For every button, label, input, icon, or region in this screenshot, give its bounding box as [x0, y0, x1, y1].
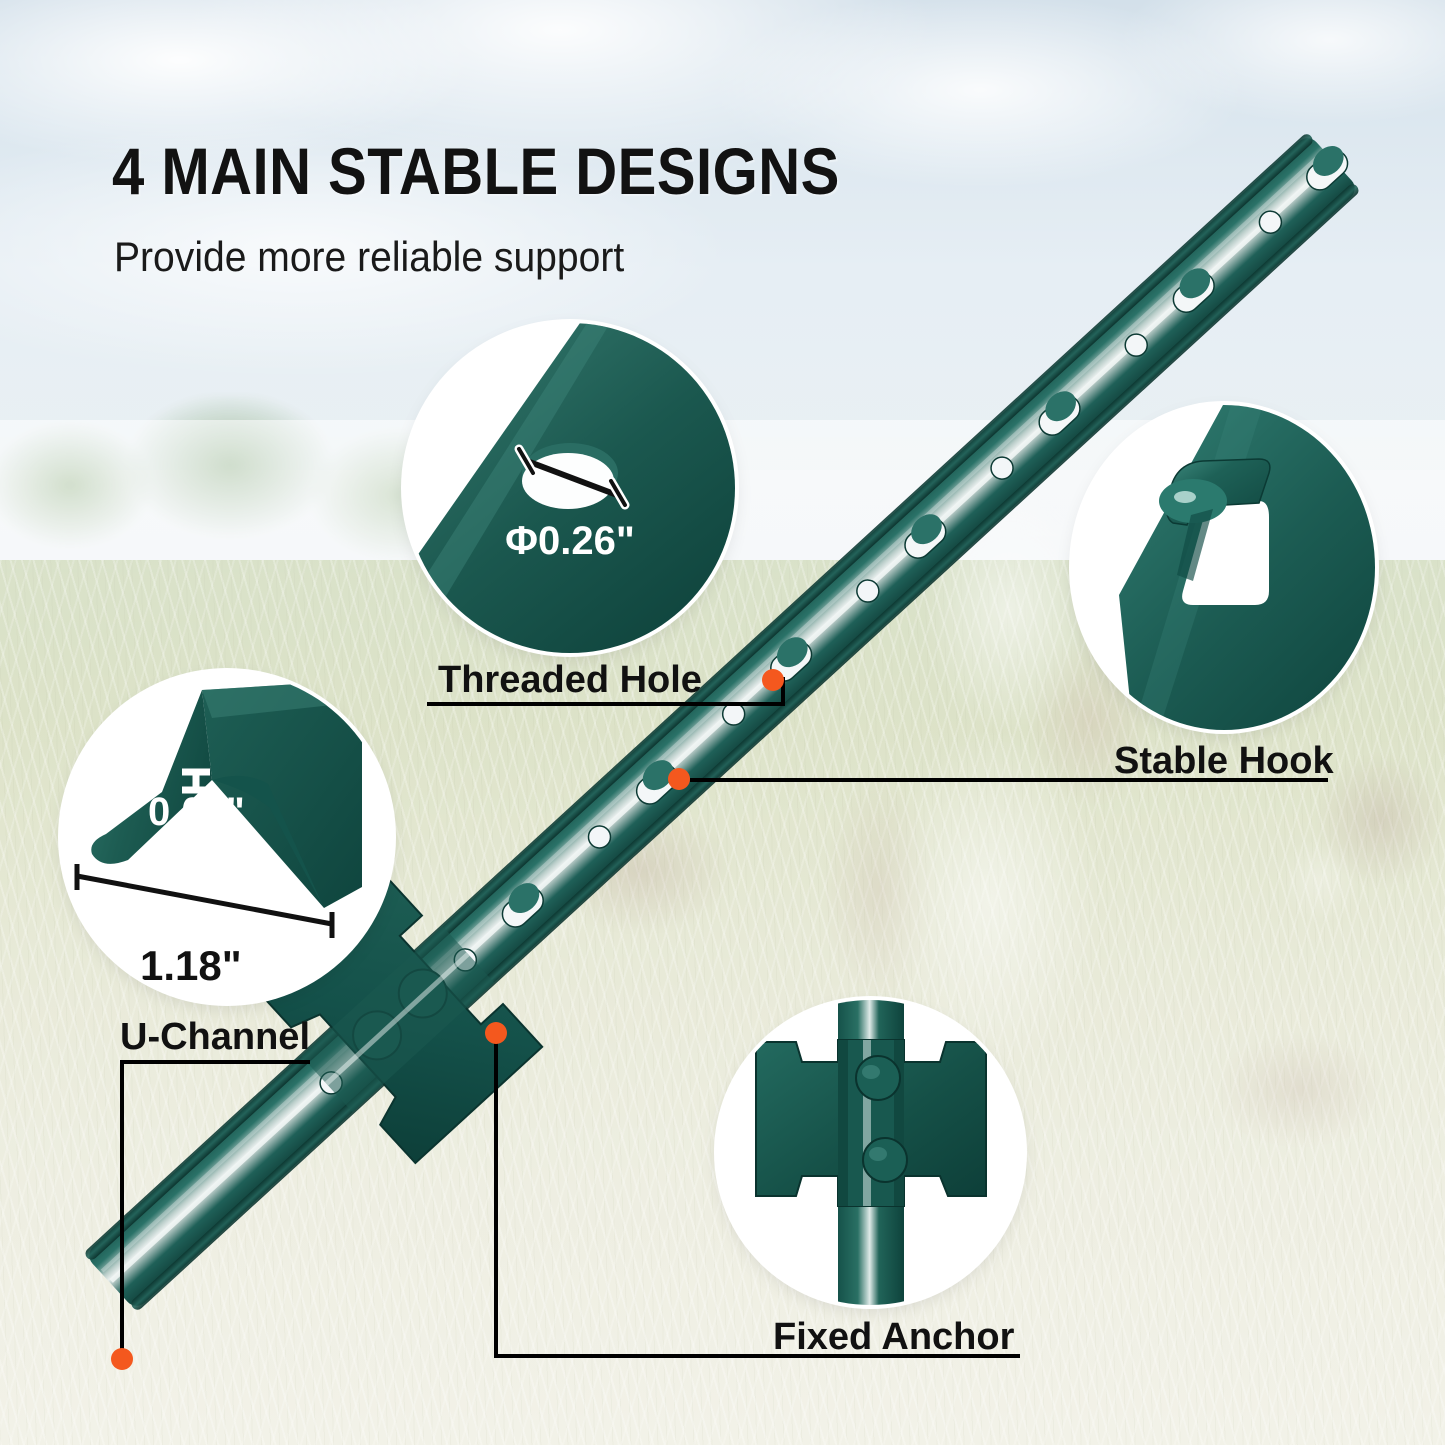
anchor-dot-stable-hook	[668, 768, 690, 790]
anchor-dot-fixed-anchor	[485, 1022, 507, 1044]
u-channel-thickness: 0.08"	[148, 790, 245, 835]
leader-u-channel-vertical	[120, 1060, 124, 1360]
leader-u-channel-horizontal	[120, 1060, 310, 1064]
label-fixed-anchor: Fixed Anchor	[773, 1316, 1014, 1359]
anchor-dot-u-channel	[111, 1348, 133, 1370]
infographic-canvas: 4 MAIN STABLE DESIGNS Provide more relia…	[0, 0, 1445, 1445]
label-u-channel: U-Channel	[120, 1016, 310, 1059]
label-threaded-hole: Threaded Hole	[438, 659, 702, 702]
callout-u-channel: 0.08" 1.18"	[62, 672, 392, 1002]
leader-threaded-hole-horizontal	[427, 702, 785, 706]
u-channel-width: 1.18"	[140, 942, 242, 990]
leader-stable-hook-horizontal	[690, 778, 1328, 782]
anchor-dot-threaded-hole	[762, 669, 784, 691]
callout-stable-hook	[1073, 405, 1375, 730]
leader-fixed-anchor-horizontal	[494, 1354, 1020, 1358]
threaded-hole-dimension: Φ0.26"	[405, 519, 735, 564]
callout-threaded-hole: Φ0.26"	[405, 323, 735, 653]
callout-fixed-anchor	[718, 1000, 1023, 1305]
label-stable-hook: Stable Hook	[1114, 740, 1334, 783]
leader-fixed-anchor-vertical	[494, 1032, 498, 1358]
